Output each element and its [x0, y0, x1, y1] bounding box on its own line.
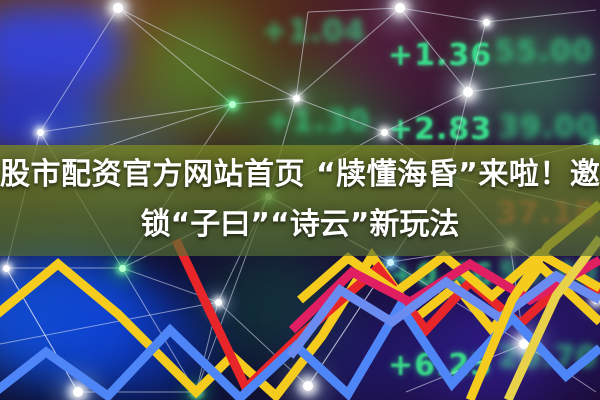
headline-line-2: 锁“子曰”“诗云”新玩法 [0, 200, 600, 250]
page-title: 股市配资官方网站首页 “牍懂海昏”来啦！邀你解 锁“子曰”“诗云”新玩法 [0, 150, 600, 250]
headline-line-1: 股市配资官方网站首页 “牍懂海昏”来啦！邀你解 [0, 150, 600, 200]
promo-banner: +1.04 +1.36 55.00 M +1.30 +2.83 39.00 M … [0, 0, 600, 400]
